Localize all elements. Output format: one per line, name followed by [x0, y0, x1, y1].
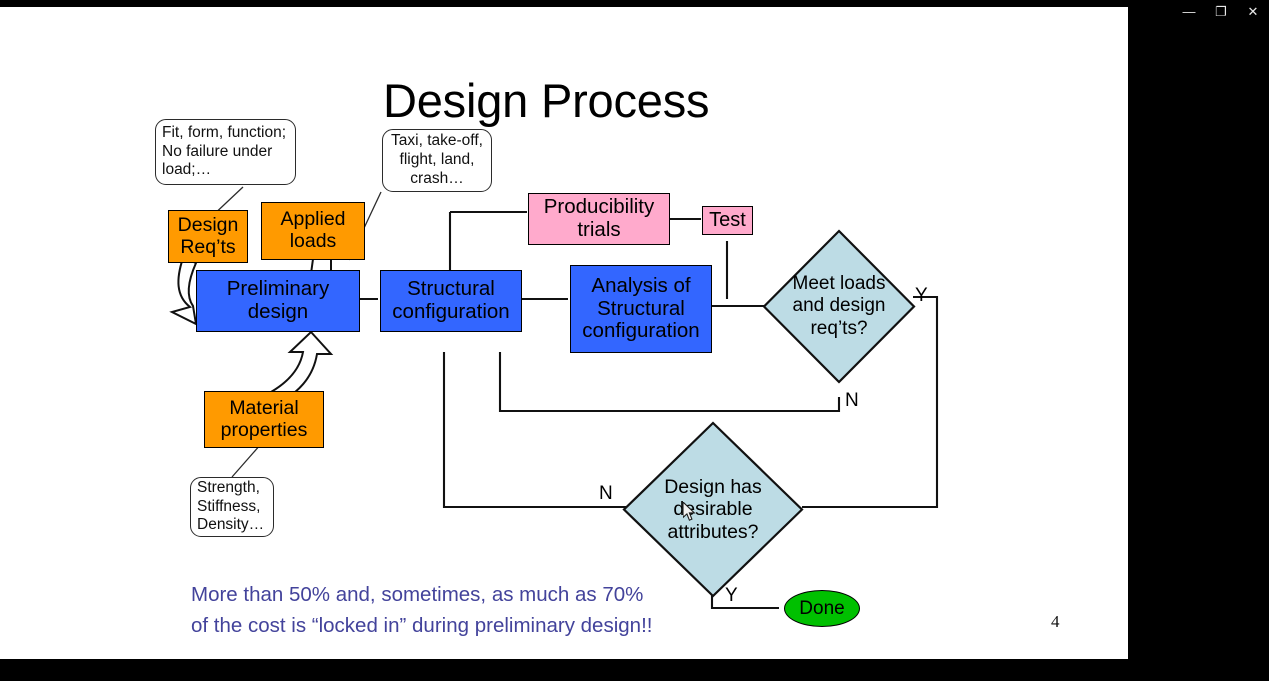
- page-title: Design Process: [383, 77, 763, 124]
- callout-text: Strength, Stiffness, Density…: [197, 479, 264, 536]
- node-label: Test: [709, 209, 746, 231]
- node-label: Analysis of Structural configuration: [582, 275, 699, 344]
- screen-share-window: Design Process Fit, form, function; No f…: [0, 0, 1269, 681]
- edge-label-desirable-yes: Y: [725, 585, 738, 607]
- edge-label-meet-loads-yes: Y: [915, 285, 928, 307]
- node-done[interactable]: Done: [784, 590, 860, 627]
- maximize-button[interactable]: ❐: [1205, 0, 1237, 22]
- node-label: Material properties: [221, 398, 308, 442]
- node-test[interactable]: Test: [702, 206, 753, 235]
- edge-label-meet-loads-no: N: [845, 390, 859, 412]
- slide-canvas: Design Process Fit, form, function; No f…: [0, 7, 1128, 659]
- node-label: Done: [799, 598, 844, 620]
- node-label: Design Req’ts: [178, 215, 239, 259]
- callout-design-requirements: Fit, form, function; No failure under lo…: [155, 119, 296, 185]
- callout-applied-loads: Taxi, take-off, flight, land, crash…: [382, 129, 492, 192]
- node-label: Preliminary design: [227, 278, 330, 324]
- node-label: Applied loads: [280, 209, 345, 253]
- callout-text: Fit, form, function; No failure under lo…: [162, 124, 286, 181]
- edge-label-desirable-no: N: [599, 483, 613, 505]
- video-panel: [1128, 0, 1269, 681]
- decision-design-has-desirable-attributes[interactable]: Design has desirable attributes?: [622, 421, 804, 598]
- slide-note: More than 50% and, sometimes, as much as…: [191, 579, 661, 641]
- node-structural-configuration[interactable]: Structural configuration: [380, 270, 522, 332]
- callout-material-properties: Strength, Stiffness, Density…: [190, 477, 274, 537]
- page-number: 4: [1051, 612, 1060, 632]
- yellow-arrow-reqts: [172, 258, 196, 324]
- window-controls: — ❐ ✕: [1128, 0, 1269, 22]
- mouse-cursor: [683, 502, 697, 522]
- minimize-button[interactable]: —: [1173, 0, 1205, 22]
- decision-label: Design has desirable attributes?: [664, 476, 762, 544]
- close-button[interactable]: ✕: [1237, 0, 1269, 22]
- node-applied-loads[interactable]: Applied loads: [261, 202, 365, 260]
- decision-meet-loads-and-design-reqts[interactable]: Meet loads and design req’ts?: [762, 229, 916, 384]
- callout-text: Taxi, take-off, flight, land, crash…: [391, 132, 483, 189]
- node-preliminary-design[interactable]: Preliminary design: [196, 270, 360, 332]
- node-material-properties[interactable]: Material properties: [204, 391, 324, 448]
- node-design-requirements[interactable]: Design Req’ts: [168, 210, 248, 263]
- node-producibility-trials[interactable]: Producibility trials: [528, 193, 670, 245]
- node-label: Structural configuration: [392, 278, 509, 324]
- node-label: Producibility trials: [544, 196, 655, 242]
- node-analysis-of-structural-configuration[interactable]: Analysis of Structural configuration: [570, 265, 712, 353]
- decision-label: Meet loads and design req’ts?: [793, 273, 886, 339]
